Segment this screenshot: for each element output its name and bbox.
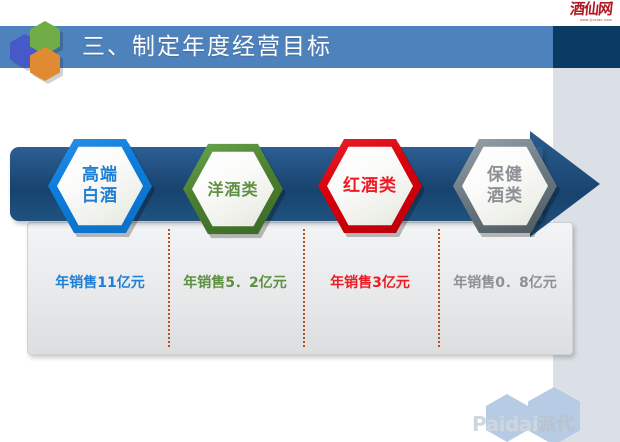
- annual-sales-value: 年销售11亿元: [34, 272, 166, 292]
- annual-sales-value: 年销售0．8亿元: [439, 272, 571, 292]
- annual-sales-value: 年销售3亿元: [304, 272, 436, 292]
- category-hexagon-health-liquor[interactable]: 保健 酒类: [453, 137, 557, 235]
- category-label-line2: 白酒: [82, 186, 118, 207]
- category-hexagon-high-end-baijiu[interactable]: 高端 白酒: [48, 137, 152, 235]
- category-label-line1: 红酒类: [343, 176, 397, 197]
- slide-canvas: 三、制定年度经营目标 ® 酒仙网 www.jiuxian.com 高端 白酒 洋…: [0, 0, 620, 442]
- hexagon-cluster-logo: [8, 18, 78, 80]
- category-label-line2: 酒类: [487, 186, 523, 207]
- brand-name: 酒仙网: [537, 2, 613, 17]
- brand-logo: ® 酒仙网 www.jiuxian.com: [538, 2, 612, 24]
- watermark: Paidai 派代: [470, 388, 620, 442]
- category-label-line1: 高端: [82, 165, 118, 186]
- category-label: 洋酒类: [183, 142, 283, 236]
- category-label: 高端 白酒: [48, 137, 152, 235]
- watermark-text-cn: 派代: [538, 410, 574, 436]
- page-title: 三、制定年度经营目标: [82, 28, 332, 66]
- header-band-dark-accent: [553, 26, 620, 68]
- category-label: 保健 酒类: [453, 137, 557, 235]
- category-hexagon-red-wine[interactable]: 红酒类: [318, 137, 422, 235]
- category-label-line1: 保健: [487, 165, 523, 186]
- category-label: 红酒类: [318, 137, 422, 235]
- annual-sales-value: 年销售5．2亿元: [169, 272, 301, 292]
- category-hexagon-foreign-liquor[interactable]: 洋酒类: [183, 142, 283, 236]
- category-label-line1: 洋酒类: [207, 179, 258, 200]
- watermark-text: Paidai: [472, 412, 538, 436]
